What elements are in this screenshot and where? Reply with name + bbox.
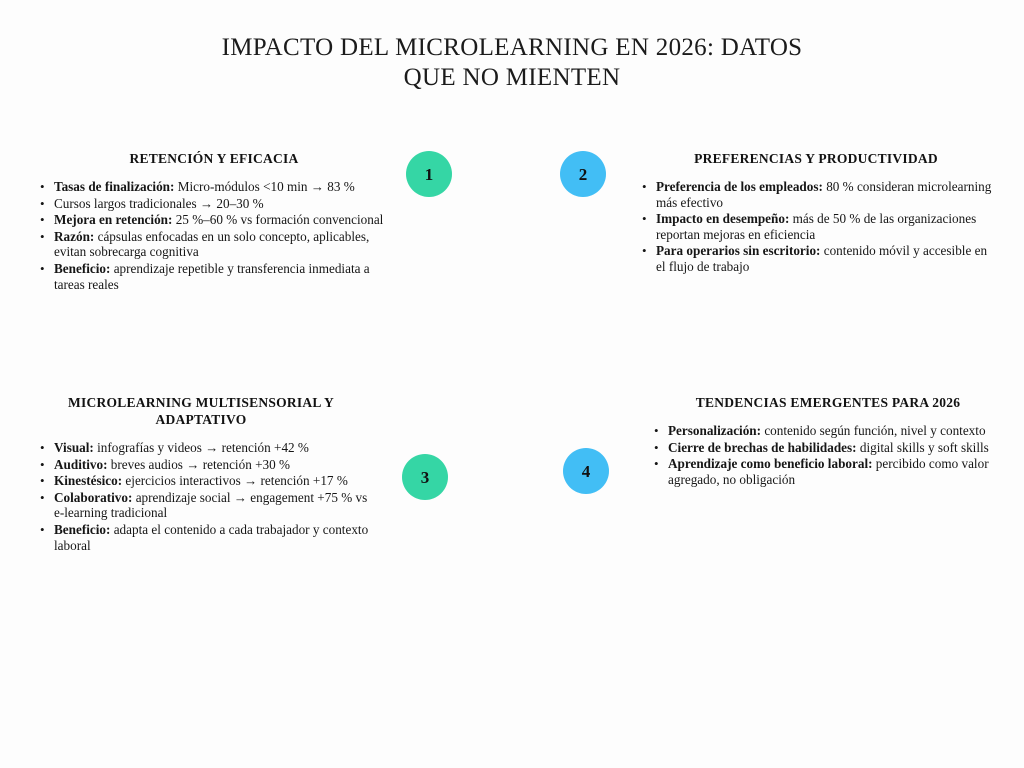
bullet-label: Impacto en desempeño: [656, 211, 789, 226]
page-title-line-1: IMPACTO DEL MICROLEARNING EN 2026: DATOS [0, 33, 1024, 63]
step-marker-4: 4 [563, 448, 609, 494]
section-heading: TENDENCIAS EMERGENTES PARA 2026 [650, 394, 1006, 411]
bullet-item: Beneficio: adapta el contenido a cada tr… [54, 522, 376, 553]
bullet-text: Cursos largos tradicionales → 20–30 % [54, 196, 264, 211]
bullet-text: ejercicios interactivos → retención +17 … [122, 473, 348, 488]
bullet-item: Kinestésico: ejercicios interactivos → r… [54, 473, 376, 489]
section-retencion-y-eficacia: RETENCIÓN Y EFICACIA Tasas de finalizaci… [36, 150, 396, 293]
bullet-item: Tasas de finalización: Micro-módulos <10… [54, 179, 396, 195]
bullet-item: Preferencia de los empleados: 80 % consi… [656, 179, 994, 210]
bullet-text: cápsulas enfocadas en un solo concepto, … [54, 229, 369, 260]
bullet-label: Personalización: [668, 423, 761, 438]
page-title: IMPACTO DEL MICROLEARNING EN 2026: DATOS… [0, 33, 1024, 93]
section-microlearning-multisensorial-y-adaptativo: MICROLEARNING MULTISENSORIAL Y ADAPTATIV… [36, 394, 376, 554]
bullet-text: breves audios → retención +30 % [108, 457, 291, 472]
bullet-item: Colaborativo: aprendizaje social → engag… [54, 490, 376, 521]
bullet-item: Razón: cápsulas enfocadas en un solo con… [54, 229, 396, 260]
bullet-label: Kinestésico: [54, 473, 122, 488]
step-marker-3: 3 [402, 454, 448, 500]
step-marker-2: 2 [560, 151, 606, 197]
bullet-label: Visual: [54, 440, 94, 455]
section-heading: MICROLEARNING MULTISENSORIAL Y ADAPTATIV… [36, 394, 366, 428]
bullet-label: Mejora en retención: [54, 212, 172, 227]
bullet-text: infografías y videos → retención +42 % [94, 440, 309, 455]
section-bullet-list: Preferencia de los empleados: 80 % consi… [638, 179, 994, 275]
bullet-item: Cursos largos tradicionales → 20–30 % [54, 196, 396, 212]
section-heading: RETENCIÓN Y EFICACIA [36, 150, 392, 167]
bullet-item: Beneficio: aprendizaje repetible y trans… [54, 261, 396, 292]
bullet-item: Cierre de brechas de habilidades: digita… [668, 440, 1006, 456]
bullet-text: 25 %–60 % vs formación convencional [172, 212, 383, 227]
bullet-text: digital skills y soft skills [857, 440, 989, 455]
section-tendencias-emergentes-para-2026: TENDENCIAS EMERGENTES PARA 2026 Personal… [650, 394, 1006, 488]
bullet-label: Aprendizaje como beneficio laboral: [668, 456, 873, 471]
section-heading: PREFERENCIAS Y PRODUCTIVIDAD [638, 150, 994, 167]
bullet-item: Para operarios sin escritorio: contenido… [656, 243, 994, 274]
bullet-label: Colaborativo: [54, 490, 132, 505]
step-marker-1: 1 [406, 151, 452, 197]
bullet-label: Beneficio: [54, 522, 110, 537]
bullet-label: Beneficio: [54, 261, 110, 276]
bullet-text: contenido según función, nivel y context… [761, 423, 986, 438]
section-bullet-list: Visual: infografías y videos → retención… [36, 440, 376, 553]
bullet-item: Visual: infografías y videos → retención… [54, 440, 376, 456]
bullet-item: Personalización: contenido según función… [668, 423, 1006, 439]
bullet-text: Micro-módulos <10 min → 83 % [174, 179, 354, 194]
bullet-item: Mejora en retención: 25 %–60 % vs formac… [54, 212, 396, 228]
section-preferencias-y-productividad: PREFERENCIAS Y PRODUCTIVIDAD Preferencia… [638, 150, 994, 276]
bullet-label: Tasas de finalización: [54, 179, 174, 194]
bullet-item: Aprendizaje como beneficio laboral: perc… [668, 456, 1006, 487]
bullet-label: Cierre de brechas de habilidades: [668, 440, 857, 455]
bullet-label: Auditivo: [54, 457, 108, 472]
bullet-item: Impacto en desempeño: más de 50 % de las… [656, 211, 994, 242]
bullet-item: Auditivo: breves audios → retención +30 … [54, 457, 376, 473]
page-title-line-2: QUE NO MIENTEN [0, 63, 1024, 93]
section-bullet-list: Personalización: contenido según función… [650, 423, 1006, 487]
bullet-label: Para operarios sin escritorio: [656, 243, 820, 258]
bullet-label: Preferencia de los empleados: [656, 179, 823, 194]
bullet-label: Razón: [54, 229, 94, 244]
section-bullet-list: Tasas de finalización: Micro-módulos <10… [36, 179, 396, 292]
